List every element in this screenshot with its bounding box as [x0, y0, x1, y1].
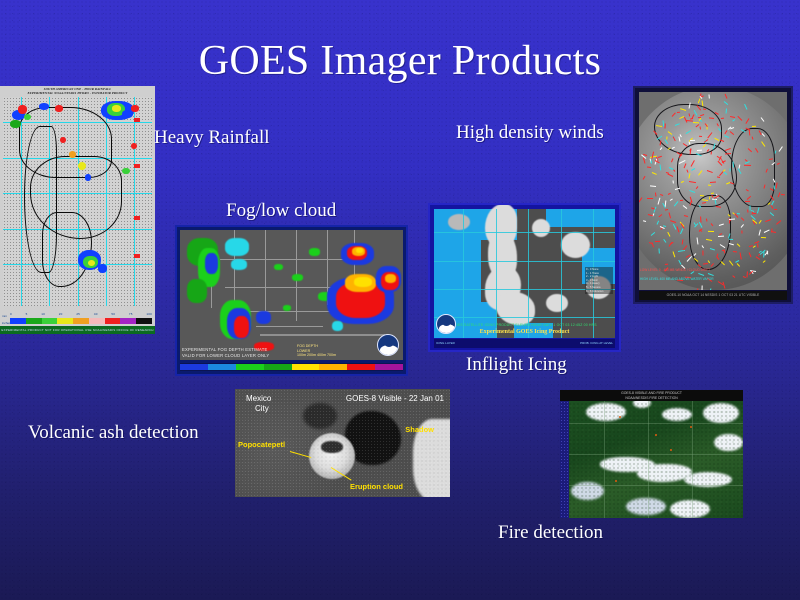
wind-barb-icon — [698, 136, 701, 137]
wind-barb-icon — [710, 264, 713, 267]
wind-barb-icon — [729, 260, 734, 266]
wind-barb-icon — [714, 200, 716, 205]
wind-barb-icon — [707, 170, 713, 173]
fog-product-tag: EXPERIMENTAL FOG DEPTH ESTIMATE VALID FO… — [182, 347, 269, 358]
wind-barb-icon — [717, 236, 723, 237]
wind-barb-icon — [718, 129, 721, 132]
wind-barb-icon — [776, 220, 781, 224]
wind-barb-icon — [697, 237, 699, 244]
wind-barb-icon — [690, 190, 696, 193]
wind-barb-icon — [777, 163, 780, 165]
wind-barb-icon — [733, 251, 737, 252]
wind-barb-icon — [665, 140, 669, 145]
wind-barb-icon — [747, 209, 748, 212]
wind-barb-icon — [757, 208, 760, 214]
wind-barb-icon — [659, 147, 662, 150]
wind-barb-icon — [674, 201, 679, 207]
wind-barb-icon — [774, 209, 777, 210]
colorbar-swatch — [57, 318, 73, 324]
wind-barb-icon — [702, 285, 703, 290]
ash-shadow-label: Shadow — [405, 425, 434, 435]
wind-barb-icon — [741, 129, 746, 132]
wind-barb-icon — [688, 103, 690, 110]
wind-barb-icon — [650, 160, 652, 163]
wind-barb-icon — [672, 181, 673, 184]
wind-barb-icon — [668, 147, 671, 149]
ash-mexico-city-label-line2: City — [255, 404, 269, 414]
wind-barb-icon — [745, 201, 750, 202]
wind-barb-icon — [698, 273, 704, 276]
wind-barb-icon — [758, 130, 761, 135]
wind-barb-icon — [655, 193, 656, 197]
wind-barb-icon — [707, 149, 710, 152]
wind-barb-icon — [771, 162, 775, 165]
wind-barb-icon — [683, 215, 687, 217]
wind-barb-icon — [740, 217, 744, 221]
wind-barb-icon — [674, 188, 679, 190]
wind-barb-icon — [759, 230, 761, 236]
wind-barb-icon — [723, 250, 725, 253]
ash-title-label: GOES-8 Visible - 22 Jan 01 — [346, 394, 444, 404]
wind-barb-icon — [778, 146, 782, 151]
wind-barb-icon — [753, 245, 756, 248]
caption-heavy-rainfall: Heavy Rainfall — [154, 127, 270, 149]
noaa-logo-icon — [436, 314, 456, 334]
wind-barb-icon — [657, 221, 659, 225]
wind-barb-icon — [715, 138, 719, 141]
wind-barb-icon — [702, 199, 708, 201]
wind-barb-icon — [688, 142, 690, 145]
wind-barb-icon — [761, 237, 766, 238]
wind-barb-icon — [691, 168, 695, 171]
wind-barb-icon — [745, 159, 748, 162]
ash-volcano-label: Popocatepetl — [238, 440, 285, 450]
wind-barb-icon — [725, 148, 731, 151]
wind-barb-icon — [739, 253, 741, 260]
wind-barb-icon — [698, 170, 702, 175]
wind-barb-icon — [689, 149, 691, 155]
wind-barb-icon — [758, 221, 761, 225]
wind-barb-icon — [639, 198, 643, 203]
wind-barb-icon — [670, 220, 676, 223]
wind-barb-icon — [746, 118, 750, 124]
wind-barb-icon — [655, 241, 660, 242]
wind-barb-icon — [709, 117, 714, 119]
wind-barb-icon — [719, 224, 724, 226]
wind-barb-icon — [658, 214, 662, 217]
colorbar-swatch — [136, 318, 152, 324]
winds-footer: GOES-10 NOAA OCT 14 NESDIS 1 OCT 03 21 U… — [639, 291, 787, 300]
wind-barb-icon — [690, 197, 693, 203]
wind-barb-icon — [749, 253, 752, 258]
wind-barb-icon — [706, 238, 712, 240]
wind-barb-icon — [711, 194, 713, 198]
wind-barb-icon — [773, 179, 775, 183]
wind-barb-icon — [746, 271, 747, 278]
wind-barb-icon — [711, 223, 714, 226]
rainfall-colorbar-ticks: 0 5 10 20 25 40 50 75 100 — [10, 312, 152, 317]
fog-satellite-image — [180, 230, 403, 360]
wind-barb-icon — [688, 113, 690, 116]
wind-barb-icon — [668, 192, 671, 194]
caption-inflight-icing: Inflight Icing — [466, 354, 567, 376]
wind-barb-icon — [708, 260, 710, 263]
fire-header: GOES-8 VISIBLE AND FIRE PRODUCT NOAA/NES… — [560, 390, 743, 401]
fog-colorbar — [180, 363, 403, 371]
wind-barb-icon — [762, 133, 766, 137]
wind-barb-icon — [649, 242, 652, 244]
icing-severity-key: 0 - 0 None 1 - 1 Trace 2 - 2 Light 3 - 3… — [585, 267, 613, 294]
caption-fog-low-cloud: Fog/low cloud — [226, 200, 336, 222]
wind-barb-icon — [709, 231, 715, 232]
wind-barb-icon — [732, 275, 735, 278]
wind-barb-icon — [719, 244, 725, 248]
wind-barb-icon — [712, 143, 715, 149]
wind-barb-icon — [770, 195, 774, 200]
wind-barb-icon — [757, 243, 758, 247]
wind-barb-icon — [658, 248, 659, 253]
wind-barb-icon — [694, 253, 697, 256]
wind-barb-icon — [677, 112, 681, 113]
colorbar-swatch — [89, 318, 105, 324]
wind-barb-icon — [686, 170, 688, 173]
wind-barb-icon — [690, 139, 695, 140]
wind-barb-icon — [710, 151, 712, 154]
wind-barb-icon — [650, 185, 656, 187]
wind-barb-icon — [717, 177, 720, 179]
colorbar-swatch — [73, 318, 89, 324]
wind-barb-icon — [698, 98, 701, 103]
wind-barb-icon — [701, 245, 703, 248]
wind-barb-icon — [724, 101, 729, 105]
wind-barb-icon — [766, 219, 772, 222]
wind-barb-icon — [699, 126, 700, 129]
winds-legend-low-level: LOW LEVEL 0 - 400 MB WINDS / CLOUD DRIFT — [640, 268, 710, 272]
wind-barb-icon — [747, 148, 752, 152]
fire-hotspot — [670, 449, 672, 451]
wind-barb-icon — [732, 162, 734, 168]
winds-legend-high-level: HIGH LEVEL 400 MB AND ABOVE WATER VAPOR — [640, 277, 714, 281]
wind-barb-icon — [737, 213, 741, 214]
wind-barb-icon — [682, 143, 686, 146]
ash-plume-label: Eruption cloud — [350, 482, 403, 492]
wind-barb-icon — [710, 192, 714, 194]
icing-product-label: Experimental GOES Icing Product — [430, 328, 619, 336]
wind-barb-icon — [725, 130, 728, 134]
wind-barb-icon — [752, 136, 754, 140]
wind-barb-icon — [665, 209, 668, 211]
fire-left-sidebar — [560, 401, 569, 518]
wind-barb-icon — [776, 183, 778, 189]
wind-barb-icon — [643, 220, 646, 222]
wind-barb-icon — [657, 135, 663, 139]
wind-barb-icon — [665, 264, 668, 265]
wind-barb-icon — [766, 169, 768, 173]
wind-barb-icon — [706, 219, 708, 222]
rainfall-map-field — [3, 97, 152, 306]
wind-barb-icon — [700, 216, 701, 222]
wind-barb-icon — [700, 195, 704, 196]
wind-barb-icon — [732, 120, 735, 122]
wind-barb-icon — [709, 196, 711, 199]
panel-heavy-rainfall[interactable]: SOUTH AMERICAN ONE - HOUR RAINFALL EXPER… — [0, 86, 155, 334]
wind-barb-icon — [668, 174, 674, 178]
wind-barb-icon — [738, 168, 742, 173]
wind-barb-icon — [651, 152, 653, 159]
wind-barb-icon — [708, 94, 709, 98]
wind-barb-icon — [729, 239, 733, 240]
wind-barb-icon — [700, 114, 704, 116]
fire-hotspot — [619, 416, 621, 418]
colorbar-swatch — [105, 318, 121, 324]
wind-barb-icon — [688, 174, 690, 179]
wind-barb-icon — [749, 205, 750, 210]
ash-mexico-city-label-line1: Mexico — [246, 394, 271, 404]
noaa-logo-icon — [377, 334, 399, 356]
fire-hotspot — [655, 434, 657, 436]
wind-barb-icon — [680, 228, 683, 233]
wind-barb-icon — [736, 243, 740, 247]
panel-inflight-icing[interactable]: 0 - 0 None 1 - 1 Trace 2 - 2 Light 3 - 3… — [428, 203, 621, 352]
wind-barb-icon — [710, 182, 716, 184]
wind-barb-icon — [710, 248, 716, 251]
wind-barb-icon — [702, 101, 704, 107]
wind-barb-icon — [697, 105, 702, 110]
wind-barb-icon — [668, 131, 672, 134]
wind-barb-icon — [747, 195, 751, 199]
wind-barb-icon — [653, 131, 657, 135]
fog-legend: FOG DEPTH LOWER 100m 200m 400m 700m — [297, 344, 336, 358]
wind-barb-icon — [683, 245, 687, 250]
slide-canvas: GOES Imager Products SOUTH AMERICAN ONE … — [0, 0, 800, 600]
wind-barb-icon — [676, 226, 679, 232]
wind-barb-icon — [708, 273, 714, 276]
wind-barb-icon — [680, 200, 683, 201]
page-title: GOES Imager Products — [0, 38, 800, 84]
wind-barb-icon — [707, 132, 712, 138]
wind-barb-icon — [667, 231, 670, 236]
colorbar-swatch — [10, 318, 26, 324]
wind-barb-icon — [660, 165, 662, 171]
wind-barb-icon — [739, 164, 741, 168]
wind-barb-icon — [681, 239, 683, 244]
wind-barb-icon — [755, 148, 758, 153]
wind-barb-icon — [671, 159, 673, 163]
wind-barb-icon — [642, 176, 645, 180]
wind-barb-icon — [730, 168, 731, 171]
wind-barb-icon — [725, 109, 726, 114]
wind-barb-icon — [755, 256, 760, 260]
wind-barb-icon — [670, 199, 673, 202]
wind-barb-icon — [716, 206, 721, 208]
wind-barb-icon — [692, 114, 695, 119]
wind-barb-icon — [720, 261, 724, 265]
wind-barb-icon — [731, 116, 736, 118]
wind-barb-icon — [752, 126, 756, 127]
panel-fire-detection[interactable]: GOES-8 VISIBLE AND FIRE PRODUCT NOAA/NES… — [560, 390, 743, 518]
wind-barb-icon — [647, 167, 651, 168]
wind-barb-icon — [744, 164, 751, 165]
winds-full-disk-image — [639, 92, 787, 290]
panel-volcanic-ash[interactable]: Mexico City GOES-8 Visible - 22 Jan 01 S… — [235, 389, 450, 497]
wind-barb-icon — [659, 140, 661, 146]
wind-barb-icon — [663, 239, 666, 243]
wind-barb-icon — [689, 181, 696, 183]
wind-barb-icon — [672, 147, 675, 149]
wind-barb-icon — [656, 125, 662, 127]
wind-barb-icon — [702, 202, 706, 204]
wind-barb-icon — [685, 130, 690, 134]
wind-barb-icon — [781, 194, 785, 195]
rainfall-footer: EXPERIMENTAL PRODUCT NOT FOR OPERATIONAL… — [0, 326, 155, 334]
colorbar-swatch — [120, 318, 136, 324]
wind-barb-icon — [737, 116, 742, 121]
wind-barb-icon — [771, 205, 774, 209]
wind-barb-icon — [709, 289, 712, 290]
wind-barb-icon — [696, 186, 699, 189]
wind-barb-icon — [769, 212, 773, 216]
wind-barb-icon — [736, 263, 739, 266]
wind-barb-icon — [671, 113, 675, 118]
wind-barb-icon — [751, 210, 754, 212]
wind-barb-icon — [652, 172, 657, 175]
wind-barb-icon — [694, 258, 699, 262]
wind-barb-icon — [684, 163, 687, 168]
wind-barb-icon — [673, 251, 676, 257]
wind-barb-icon — [669, 213, 671, 219]
wind-barb-icon — [697, 150, 702, 151]
icing-footer-bar: ICING LAYER PROB. ICING AT LEVEL — [434, 339, 615, 348]
fire-hotspot — [690, 426, 692, 428]
colorbar-swatch — [26, 318, 42, 324]
wind-barb-icon — [666, 136, 667, 139]
wind-barb-icon — [760, 117, 764, 122]
wind-vector-field — [639, 92, 787, 290]
wind-barb-icon — [725, 94, 728, 99]
wind-barb-icon — [716, 256, 719, 260]
rainfall-colorbar — [10, 318, 152, 324]
wind-barb-icon — [675, 123, 680, 126]
caption-high-density-winds: High density winds — [456, 122, 604, 144]
wind-barb-icon — [680, 134, 682, 137]
wind-barb-icon — [669, 167, 674, 170]
wind-barb-icon — [660, 194, 663, 196]
wind-barb-icon — [724, 153, 730, 155]
wind-barb-icon — [657, 156, 661, 158]
wind-barb-icon — [696, 153, 701, 156]
wind-barb-icon — [730, 131, 734, 135]
wind-barb-icon — [702, 144, 706, 148]
wind-barb-icon — [665, 123, 666, 128]
wind-barb-icon — [775, 150, 777, 153]
wind-barb-icon — [720, 140, 724, 142]
wind-barb-icon — [721, 118, 724, 119]
wind-barb-icon — [708, 185, 712, 187]
wind-barb-icon — [727, 214, 730, 216]
wind-barb-icon — [719, 233, 722, 235]
wind-barb-icon — [681, 181, 684, 183]
colorbar-swatch — [42, 318, 58, 324]
panel-fog-low-cloud[interactable]: EXPERIMENTAL FOG DEPTH ESTIMATE VALID FO… — [175, 225, 408, 376]
panel-high-density-winds[interactable]: LOW LEVEL 0 - 400 MB WINDS / CLOUD DRIFT… — [633, 86, 793, 304]
wind-barb-icon — [726, 182, 730, 184]
wind-barb-icon — [771, 229, 772, 233]
wind-barb-icon — [744, 104, 747, 110]
wind-barb-icon — [696, 288, 698, 290]
caption-volcanic-ash-detection: Volcanic ash detection — [28, 422, 199, 444]
caption-fire-detection: Fire detection — [498, 522, 603, 544]
wind-barb-icon — [761, 142, 765, 148]
wind-barb-icon — [715, 112, 719, 115]
wind-barb-icon — [703, 109, 707, 111]
wind-barb-icon — [702, 250, 703, 255]
wind-barb-icon — [769, 158, 774, 160]
wind-barb-icon — [650, 232, 654, 236]
wind-barb-icon — [682, 205, 687, 209]
wind-barb-icon — [729, 243, 734, 245]
wind-barb-icon — [657, 198, 660, 205]
wind-barb-icon — [699, 205, 702, 208]
rainfall-units-label: mm — [2, 314, 7, 318]
wind-barb-icon — [691, 161, 695, 167]
wind-barb-icon — [704, 263, 709, 265]
wind-barb-icon — [764, 185, 766, 189]
wind-barb-icon — [742, 231, 743, 234]
wind-barb-icon — [694, 110, 698, 115]
wind-barb-icon — [740, 224, 743, 228]
wind-barb-icon — [724, 136, 729, 139]
wind-barb-icon — [647, 198, 653, 199]
wind-barb-icon — [763, 229, 769, 232]
wind-barb-icon — [763, 260, 766, 263]
wind-barb-icon — [745, 189, 748, 191]
wind-barb-icon — [699, 222, 703, 228]
rainfall-header: SOUTH AMERICAN ONE - HOUR RAINFALL EXPER… — [0, 87, 155, 96]
fire-hotspot — [615, 480, 617, 482]
wind-barb-icon — [717, 123, 719, 126]
